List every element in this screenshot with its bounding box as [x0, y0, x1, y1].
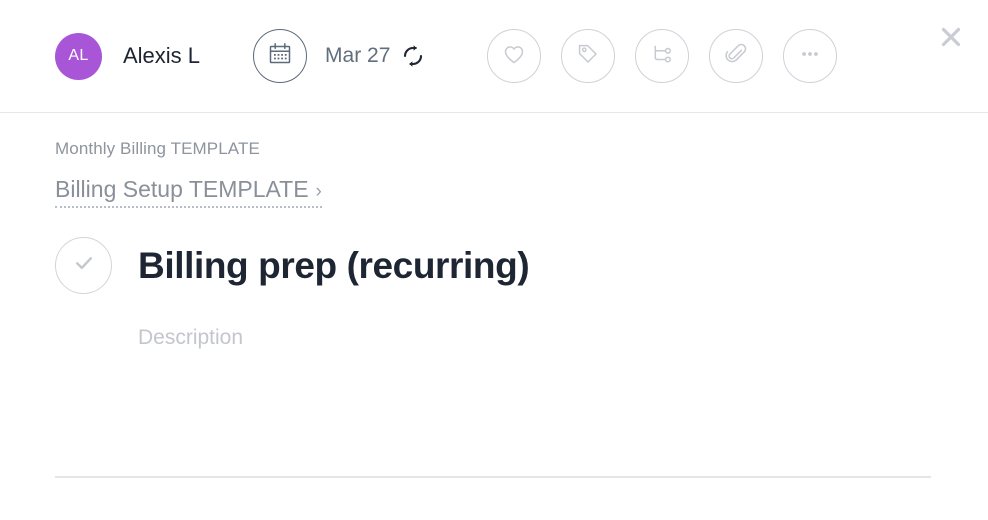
attachment-button[interactable]: [709, 29, 763, 83]
task-title-row: Billing prep (recurring): [55, 237, 933, 294]
description-input[interactable]: Description: [138, 326, 933, 350]
chevron-right-icon: ›: [316, 182, 322, 201]
more-options-button[interactable]: [783, 29, 837, 83]
action-icon-row: [487, 29, 837, 83]
subtask-button[interactable]: [635, 29, 689, 83]
tag-button[interactable]: [561, 29, 615, 83]
close-icon: [938, 24, 964, 55]
breadcrumb-section-label: Billing Setup TEMPLATE: [55, 176, 309, 203]
paperclip-icon: [723, 41, 749, 72]
calendar-icon: [267, 41, 293, 72]
like-button[interactable]: [487, 29, 541, 83]
close-button[interactable]: [936, 24, 966, 54]
task-detail-panel: AL Alexis L: [0, 0, 988, 520]
task-header: AL Alexis L: [0, 0, 988, 113]
tag-icon: [575, 41, 601, 72]
recurring-icon[interactable]: [400, 43, 426, 69]
page-title[interactable]: Billing prep (recurring): [138, 245, 529, 287]
due-date-label[interactable]: Mar 27: [325, 44, 390, 68]
assignee-block[interactable]: AL Alexis L: [55, 33, 200, 80]
breadcrumb-section[interactable]: Billing Setup TEMPLATE ›: [55, 176, 322, 208]
subtask-icon: [649, 41, 675, 72]
task-body: Monthly Billing TEMPLATE Billing Setup T…: [0, 113, 988, 350]
avatar[interactable]: AL: [55, 33, 102, 80]
ellipsis-icon: [797, 41, 823, 72]
assignee-name[interactable]: Alexis L: [123, 43, 200, 69]
due-date-block[interactable]: Mar 27: [253, 29, 426, 83]
heart-icon: [501, 41, 527, 72]
check-icon: [69, 248, 99, 283]
due-date-button[interactable]: [253, 29, 307, 83]
section-divider: [55, 476, 931, 478]
complete-task-button[interactable]: [55, 237, 112, 294]
breadcrumb-project: Monthly Billing TEMPLATE: [55, 139, 933, 159]
